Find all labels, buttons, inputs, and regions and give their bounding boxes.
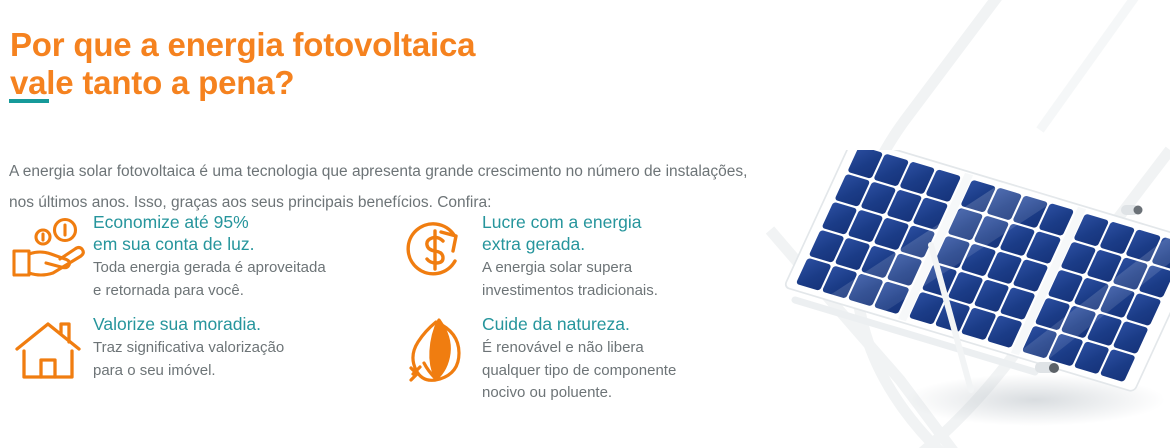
- dollar-refresh-icon: [398, 206, 476, 292]
- leaf-plug-icon: [398, 308, 476, 394]
- benefits-row-2: Valorize sua moradia. Traz significativa…: [0, 308, 760, 405]
- page-title-line-2: vale tanto a pena?: [10, 64, 710, 102]
- benefit-description: A energia solar supera investimentos tra…: [482, 257, 658, 302]
- promo-section: Por que a energia fotovoltaica vale tant…: [0, 0, 1170, 448]
- solar-panel-array-photo: [735, 150, 1170, 448]
- benefit-title: Cuide da natureza.: [482, 313, 676, 335]
- benefit-title: Valorize sua moradia.: [93, 313, 284, 335]
- benefits-grid: Economize até 95% em sua conta de luz. T…: [0, 206, 760, 405]
- benefit-item-valorize: Valorize sua moradia. Traz significativa…: [0, 308, 390, 405]
- benefit-title: Lucre com a energia extra gerada.: [482, 211, 658, 255]
- page-title-line-1: Por que a energia fotovoltaica: [10, 26, 475, 63]
- benefit-description: É renovável e não libera qualquer tipo d…: [482, 337, 676, 405]
- benefit-text: Valorize sua moradia. Traz significativa…: [93, 308, 284, 382]
- benefit-item-lucre: Lucre com a energia extra gerada. A ener…: [390, 206, 760, 302]
- benefit-text: Economize até 95% em sua conta de luz. T…: [93, 206, 326, 302]
- title-divider: [9, 99, 49, 103]
- benefit-title: Economize até 95% em sua conta de luz.: [93, 211, 326, 255]
- benefit-description: Toda energia gerada é aproveitada e reto…: [93, 257, 326, 302]
- benefit-item-natureza: Cuide da natureza. É renovável e não lib…: [390, 308, 760, 405]
- benefit-item-economize: Economize até 95% em sua conta de luz. T…: [0, 206, 390, 302]
- hand-with-coins-icon: [9, 206, 87, 292]
- benefit-description: Traz significativa valorização para o se…: [93, 337, 284, 382]
- benefit-text: Cuide da natureza. É renovável e não lib…: [482, 308, 676, 405]
- house-icon: [9, 308, 87, 394]
- benefit-text: Lucre com a energia extra gerada. A ener…: [482, 206, 658, 302]
- benefits-row-1: Economize até 95% em sua conta de luz. T…: [0, 206, 760, 302]
- page-title: Por que a energia fotovoltaica vale tant…: [10, 26, 710, 102]
